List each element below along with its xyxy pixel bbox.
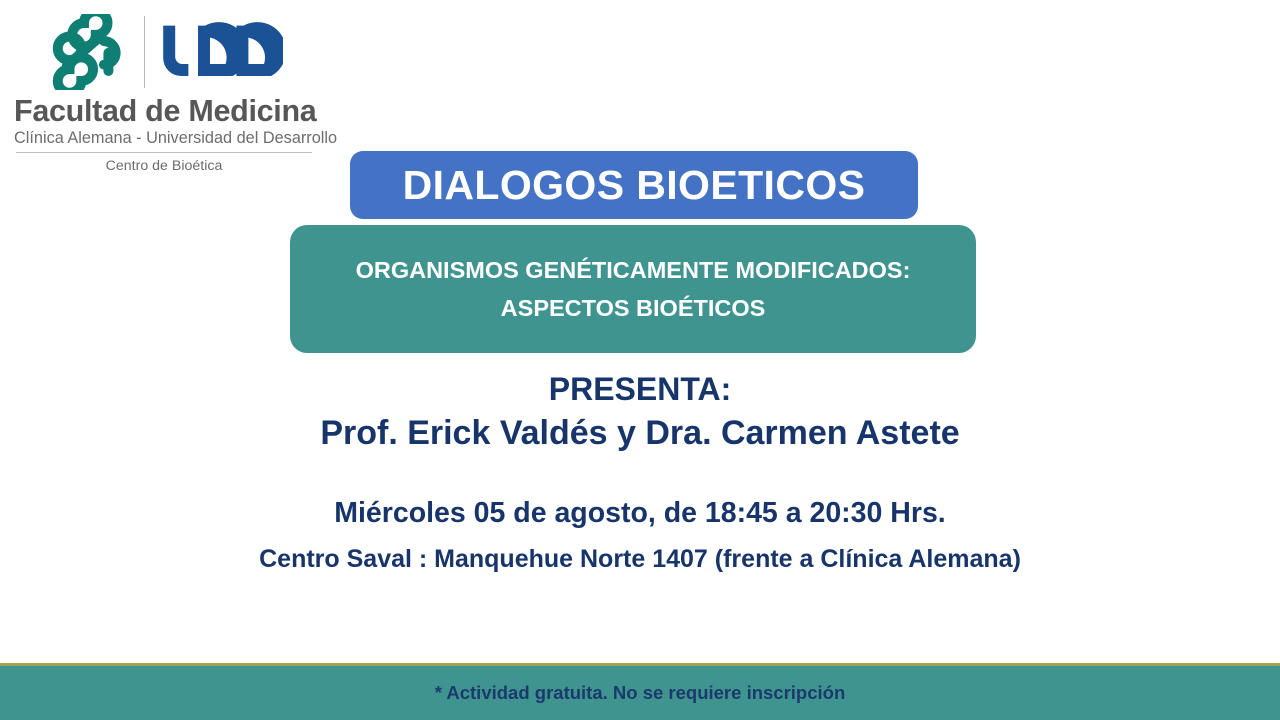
- event-datetime: Miércoles 05 de agosto, de 18:45 a 20:30…: [0, 495, 1280, 532]
- udd-wordmark-icon: [161, 22, 283, 82]
- logo-center-name: Centro de Bioética: [14, 158, 314, 174]
- footer-note: * Actividad gratuita. No se requiere ins…: [435, 682, 846, 704]
- presenta-label: PRESENTA:: [0, 368, 1280, 411]
- event-details-block: PRESENTA: Prof. Erick Valdés y Dra. Carm…: [0, 368, 1280, 576]
- speakers-names: Prof. Erick Valdés y Dra. Carmen Astete: [0, 411, 1280, 457]
- logo-horizontal-rule: [16, 152, 312, 153]
- logo-institution-name: Clínica Alemana - Universidad del Desarr…: [14, 129, 314, 148]
- subtitle-line-2: ASPECTOS BIOÉTICOS: [501, 289, 766, 327]
- title-banner-text: DIALOGOS BIOETICOS: [403, 165, 866, 206]
- subtitle-box: ORGANISMOS GENÉTICAMENTE MODIFICADOS: AS…: [290, 225, 976, 353]
- title-banner: DIALOGOS BIOETICOS: [350, 151, 918, 219]
- footer-bar: * Actividad gratuita. No se requiere ins…: [0, 663, 1280, 720]
- presentation-slide: Facultad de Medicina Clínica Alemana - U…: [0, 0, 1280, 720]
- institution-logo-block: Facultad de Medicina Clínica Alemana - U…: [14, 12, 314, 174]
- logo-marks-row: [14, 12, 314, 92]
- event-venue: Centro Saval : Manquehue Norte 1407 (fre…: [0, 543, 1280, 576]
- logo-divider: [144, 16, 145, 88]
- quatrefoil-clover-icon: [38, 14, 130, 90]
- subtitle-line-1: ORGANISMOS GENÉTICAMENTE MODIFICADOS:: [356, 251, 911, 289]
- logo-faculty-name: Facultad de Medicina: [14, 96, 314, 128]
